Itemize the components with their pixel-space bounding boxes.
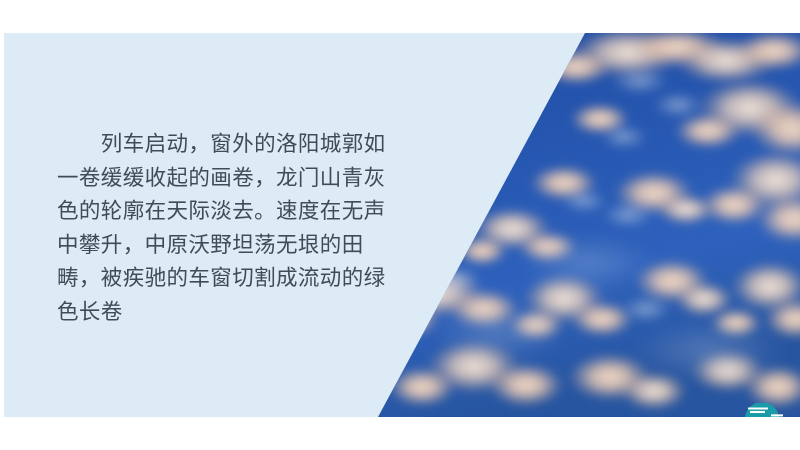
logo-visible-portion	[741, 403, 783, 417]
margin-left	[0, 0, 4, 450]
slide-canvas: 列车启动，窗外的洛阳城郭如一卷缓缓收起的画卷，龙门山青灰色的轮廓在天际淡去。速度…	[0, 0, 800, 450]
margin-top	[0, 0, 800, 33]
margin-bottom	[0, 417, 800, 450]
body-paragraph: 列车启动，窗外的洛阳城郭如一卷缓缓收起的画卷，龙门山青灰色的轮廓在天际淡去。速度…	[57, 128, 407, 329]
logo-mark[interactable]	[741, 403, 783, 445]
